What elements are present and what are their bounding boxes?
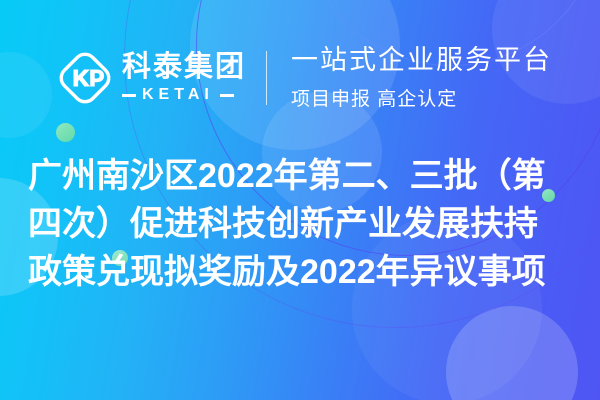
brand-logo[interactable]: 科泰集团 KETAI xyxy=(56,49,246,107)
promo-banner: 科泰集团 KETAI 一站式企业服务平台 项目申报 高企认定 广州南沙区2022… xyxy=(0,0,600,400)
banner-header: 科泰集团 KETAI 一站式企业服务平台 项目申报 高企认定 xyxy=(0,32,600,124)
header-divider xyxy=(266,51,267,105)
tagline-primary: 一站式企业服务平台 xyxy=(291,45,552,76)
decorative-dot-green-upper-left xyxy=(56,123,75,142)
banner-title-line: 政策兑现拟奖励及2022年异议事项 xyxy=(28,248,572,296)
logo-rule-left-icon xyxy=(122,94,136,97)
logo-rule-right-icon xyxy=(220,94,234,97)
banner-title: 广州南沙区2022年第二、三批（第 四次）促进科技创新产业发展扶持 政策兑现拟奖… xyxy=(0,152,600,296)
banner-title-line: 广州南沙区2022年第二、三批（第 xyxy=(28,152,572,200)
brand-logo-text: 科泰集团 KETAI xyxy=(122,52,246,104)
brand-name-en-row: KETAI xyxy=(122,86,246,104)
brand-name-cn: 科泰集团 xyxy=(122,52,246,82)
brand-tagline: 一站式企业服务平台 项目申报 高企认定 xyxy=(291,45,552,110)
decorative-circle-bottom-right xyxy=(446,306,578,400)
ketai-diamond-kp-logo-icon xyxy=(56,49,114,107)
tagline-secondary: 项目申报 高企认定 xyxy=(291,84,552,111)
banner-title-line: 四次）促进科技创新产业发展扶持 xyxy=(28,200,572,248)
brand-name-en: KETAI xyxy=(142,86,214,104)
